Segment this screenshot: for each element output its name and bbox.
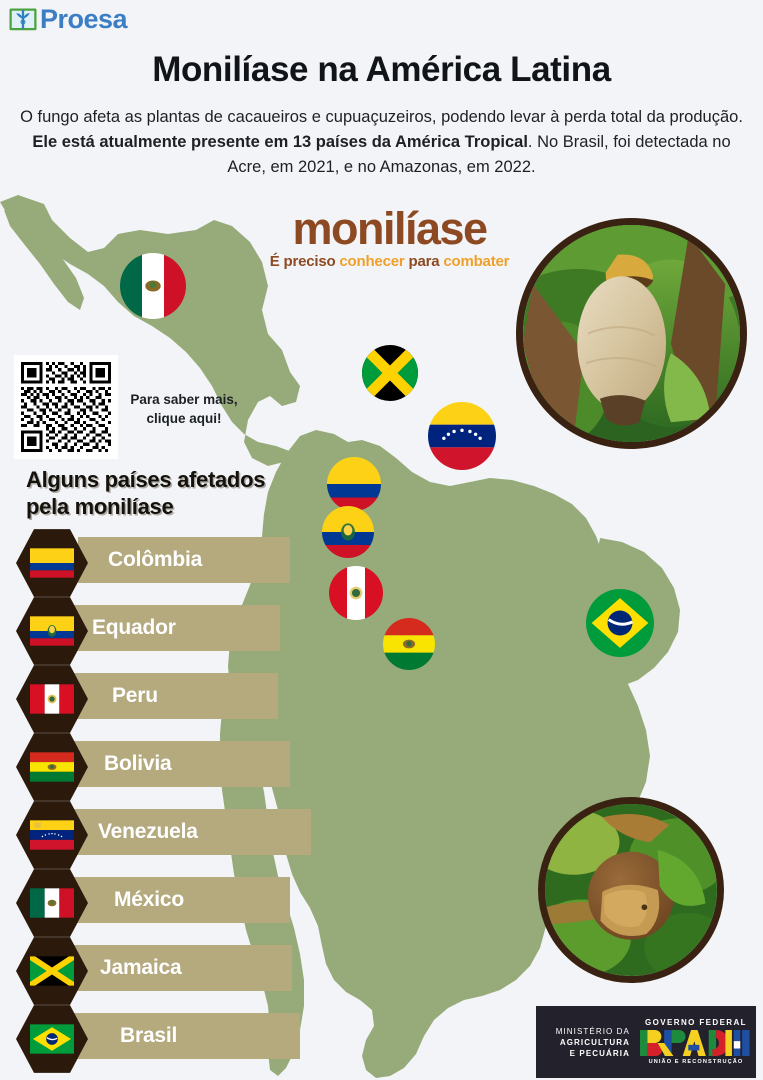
- list-item[interactable]: Brasil: [0, 1003, 340, 1071]
- brand-name: Proesa: [40, 4, 127, 34]
- flag-bolivia-icon: [383, 618, 435, 670]
- ministry-line-2: AGRICULTURA: [536, 1037, 630, 1048]
- country-bar: Bolivia: [72, 741, 290, 787]
- photo-cupuacu-infected: [538, 797, 724, 983]
- intro-paragraph: O fungo afeta as plantas de cacaueiros e…: [14, 105, 749, 180]
- infographic-poster: Proesa Monilíase na América Latina O fun…: [0, 0, 763, 1080]
- tagline-part-d: combater: [443, 253, 509, 270]
- qr-caption: Para saber mais, clique aqui!: [124, 390, 244, 428]
- country-bar: Venezuela: [68, 809, 311, 855]
- flag-ecuador-icon: [322, 506, 374, 558]
- list-item[interactable]: Equador: [0, 595, 340, 663]
- cupuacu-image: [545, 804, 717, 976]
- tagline-part-b: conhecer: [339, 253, 404, 270]
- country-list-title: Alguns países afetados pela monilíase: [26, 466, 326, 520]
- flag-mexico-icon: [30, 888, 74, 918]
- ministry-logo: MINISTÉRIO DA AGRICULTURA E PECUÁRIA: [536, 1026, 636, 1059]
- gov-tagline: UNIÃO E RECONSTRUÇÃO: [636, 1058, 756, 1067]
- flag-ecuador-icon: [30, 616, 74, 646]
- country-label: Venezuela: [68, 820, 198, 844]
- ministry-line-3: E PECUÁRIA: [536, 1048, 630, 1059]
- list-item[interactable]: Colômbia: [0, 527, 340, 595]
- flag-mexico-icon: [120, 253, 186, 319]
- governo-federal-logo: GOVERNO FEDERAL UNIÃO E RECONSTRUÇÃO: [636, 1017, 756, 1067]
- affected-countries-list: Colômbia Equador Peru: [0, 527, 340, 1071]
- country-bar: México: [72, 877, 290, 923]
- qr-code[interactable]: [14, 355, 118, 459]
- tagline-part-c: para: [405, 253, 444, 270]
- map-pin-brazil[interactable]: [586, 589, 654, 657]
- intro-text-bold: Ele está atualmente presente em 13 paíse…: [32, 133, 528, 151]
- country-bar: Brasil: [70, 1013, 300, 1059]
- country-label: Jamaica: [70, 956, 182, 980]
- flag-colombia-icon: [327, 457, 381, 511]
- proesa-logo[interactable]: Proesa: [8, 4, 127, 34]
- list-item[interactable]: Peru: [0, 663, 340, 731]
- qr-caption-line-2: clique aqui!: [124, 409, 244, 428]
- flag-peru-icon: [30, 684, 74, 714]
- flag-brazil-icon: [586, 589, 654, 657]
- list-title-line-2: pela monilíase: [26, 493, 326, 520]
- ministry-line-1: MINISTÉRIO DA: [536, 1026, 630, 1037]
- flag-jamaica-icon: [30, 956, 74, 986]
- qr-code-icon: [21, 362, 111, 452]
- country-label: Colômbia: [78, 548, 202, 572]
- government-logo-bar: MINISTÉRIO DA AGRICULTURA E PECUÁRIA GOV…: [536, 1006, 756, 1078]
- map-pin-bolivia[interactable]: [383, 618, 435, 670]
- list-title-line-1: Alguns países afetados: [26, 466, 326, 493]
- list-item[interactable]: Venezuela: [0, 799, 340, 867]
- country-bar: Jamaica: [70, 945, 292, 991]
- map-pin-colombia[interactable]: [327, 457, 381, 511]
- flag-brazil-icon: [30, 1024, 74, 1054]
- country-label: Bolivia: [72, 752, 171, 776]
- brasil-wordmark-icon: [640, 1030, 751, 1056]
- list-item[interactable]: Jamaica: [0, 935, 340, 1003]
- qr-caption-line-1: Para saber mais,: [124, 390, 244, 409]
- map-pin-mexico[interactable]: [120, 253, 186, 319]
- page-title: Monilíase na América Latina: [0, 50, 763, 90]
- flag-venezuela-icon: [30, 820, 74, 850]
- map-pin-jamaica[interactable]: [362, 345, 418, 401]
- wordmark-tagline: É preciso conhecer para combater: [252, 253, 527, 271]
- flag-bolivia-icon: [30, 752, 74, 782]
- governo-federal-label: GOVERNO FEDERAL: [636, 1017, 756, 1028]
- flag-venezuela-icon: [428, 402, 496, 470]
- book-plant-icon: [8, 4, 38, 34]
- intro-text-1: O fungo afeta as plantas de cacaueiros e…: [20, 108, 743, 126]
- wordmark-title: monilíase: [252, 205, 527, 253]
- map-pin-peru[interactable]: [329, 566, 383, 620]
- list-item[interactable]: Bolivia: [0, 731, 340, 799]
- list-item[interactable]: México: [0, 867, 340, 935]
- tagline-part-a: É preciso: [270, 253, 340, 270]
- map-pin-venezuela[interactable]: [428, 402, 496, 470]
- photo-cacao-pod-infected: [516, 218, 747, 449]
- cacao-pod-image: [523, 225, 740, 442]
- country-bar: Colômbia: [78, 537, 290, 583]
- country-label: México: [72, 888, 184, 912]
- map-pin-ecuador[interactable]: [322, 506, 374, 558]
- country-bar: Equador: [62, 605, 280, 651]
- flag-jamaica-icon: [362, 345, 418, 401]
- flag-colombia-icon: [30, 548, 74, 578]
- country-bar: Peru: [68, 673, 278, 719]
- moniliase-wordmark: monilíase É preciso conhecer para combat…: [252, 205, 527, 271]
- flag-peru-icon: [329, 566, 383, 620]
